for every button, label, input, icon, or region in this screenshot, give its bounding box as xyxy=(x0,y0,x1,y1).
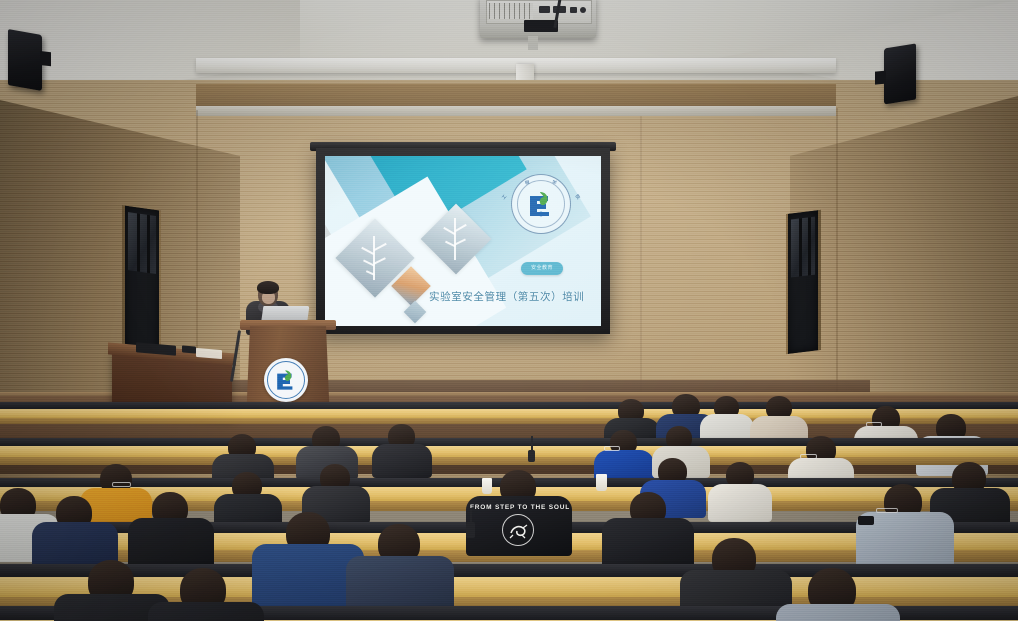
wall-trim-highlight xyxy=(196,106,836,116)
slide-badge: 安全教育 xyxy=(521,262,563,275)
projection-screen: 工程学院 安全教育 实验室安全管理（第五次）培训 xyxy=(316,148,610,334)
dragon-glyph-icon xyxy=(503,515,533,545)
hdmi-port-icon xyxy=(539,6,550,13)
window-glass xyxy=(791,217,815,278)
wall-seam xyxy=(640,116,642,396)
audience-seating: FROM STEP TO THE SOUL xyxy=(0,392,1018,621)
window-mullion xyxy=(137,213,140,271)
wall-seam xyxy=(836,108,838,394)
jacket-back-print: FROM STEP TO THE SOUL xyxy=(470,504,570,511)
window-mullion xyxy=(808,217,811,275)
narrow-window-right xyxy=(786,210,821,354)
window-mullion xyxy=(799,218,802,276)
water-cup xyxy=(482,478,492,494)
jacket-dragon-emblem-icon xyxy=(502,514,534,546)
wall-speaker-right-icon xyxy=(884,43,916,104)
mobile-phone xyxy=(858,516,874,525)
presenter-hair xyxy=(257,281,279,294)
seal-crest-icon xyxy=(526,188,556,218)
projection-screen-surface: 工程学院 安全教育 实验室安全管理（第五次）培训 xyxy=(325,156,601,326)
projector-vent-icon xyxy=(489,3,533,19)
window-mullion xyxy=(147,215,150,273)
window-glass xyxy=(128,212,156,274)
desk-microphone xyxy=(466,522,475,538)
audio-port-icon xyxy=(580,7,586,13)
ceiling-projector xyxy=(480,0,596,38)
slide-university-seal: 工程学院 xyxy=(511,174,571,234)
projector-mount xyxy=(528,36,538,50)
lecture-hall-photo: 工程学院 安全教育 实验室安全管理（第五次）培训 xyxy=(0,0,1018,621)
slide-title: 实验室安全管理（第五次）培训 xyxy=(429,290,595,304)
wall-speaker-left-icon xyxy=(8,29,42,91)
water-cup xyxy=(596,474,607,491)
desk-equipment xyxy=(182,345,196,353)
desk-microphone xyxy=(528,450,535,462)
slide-badge-label: 安全教育 xyxy=(521,262,563,275)
crest-icon xyxy=(274,368,298,392)
power-port-icon xyxy=(570,7,577,13)
narrow-window-left xyxy=(122,205,161,358)
projector-ports xyxy=(539,4,589,19)
